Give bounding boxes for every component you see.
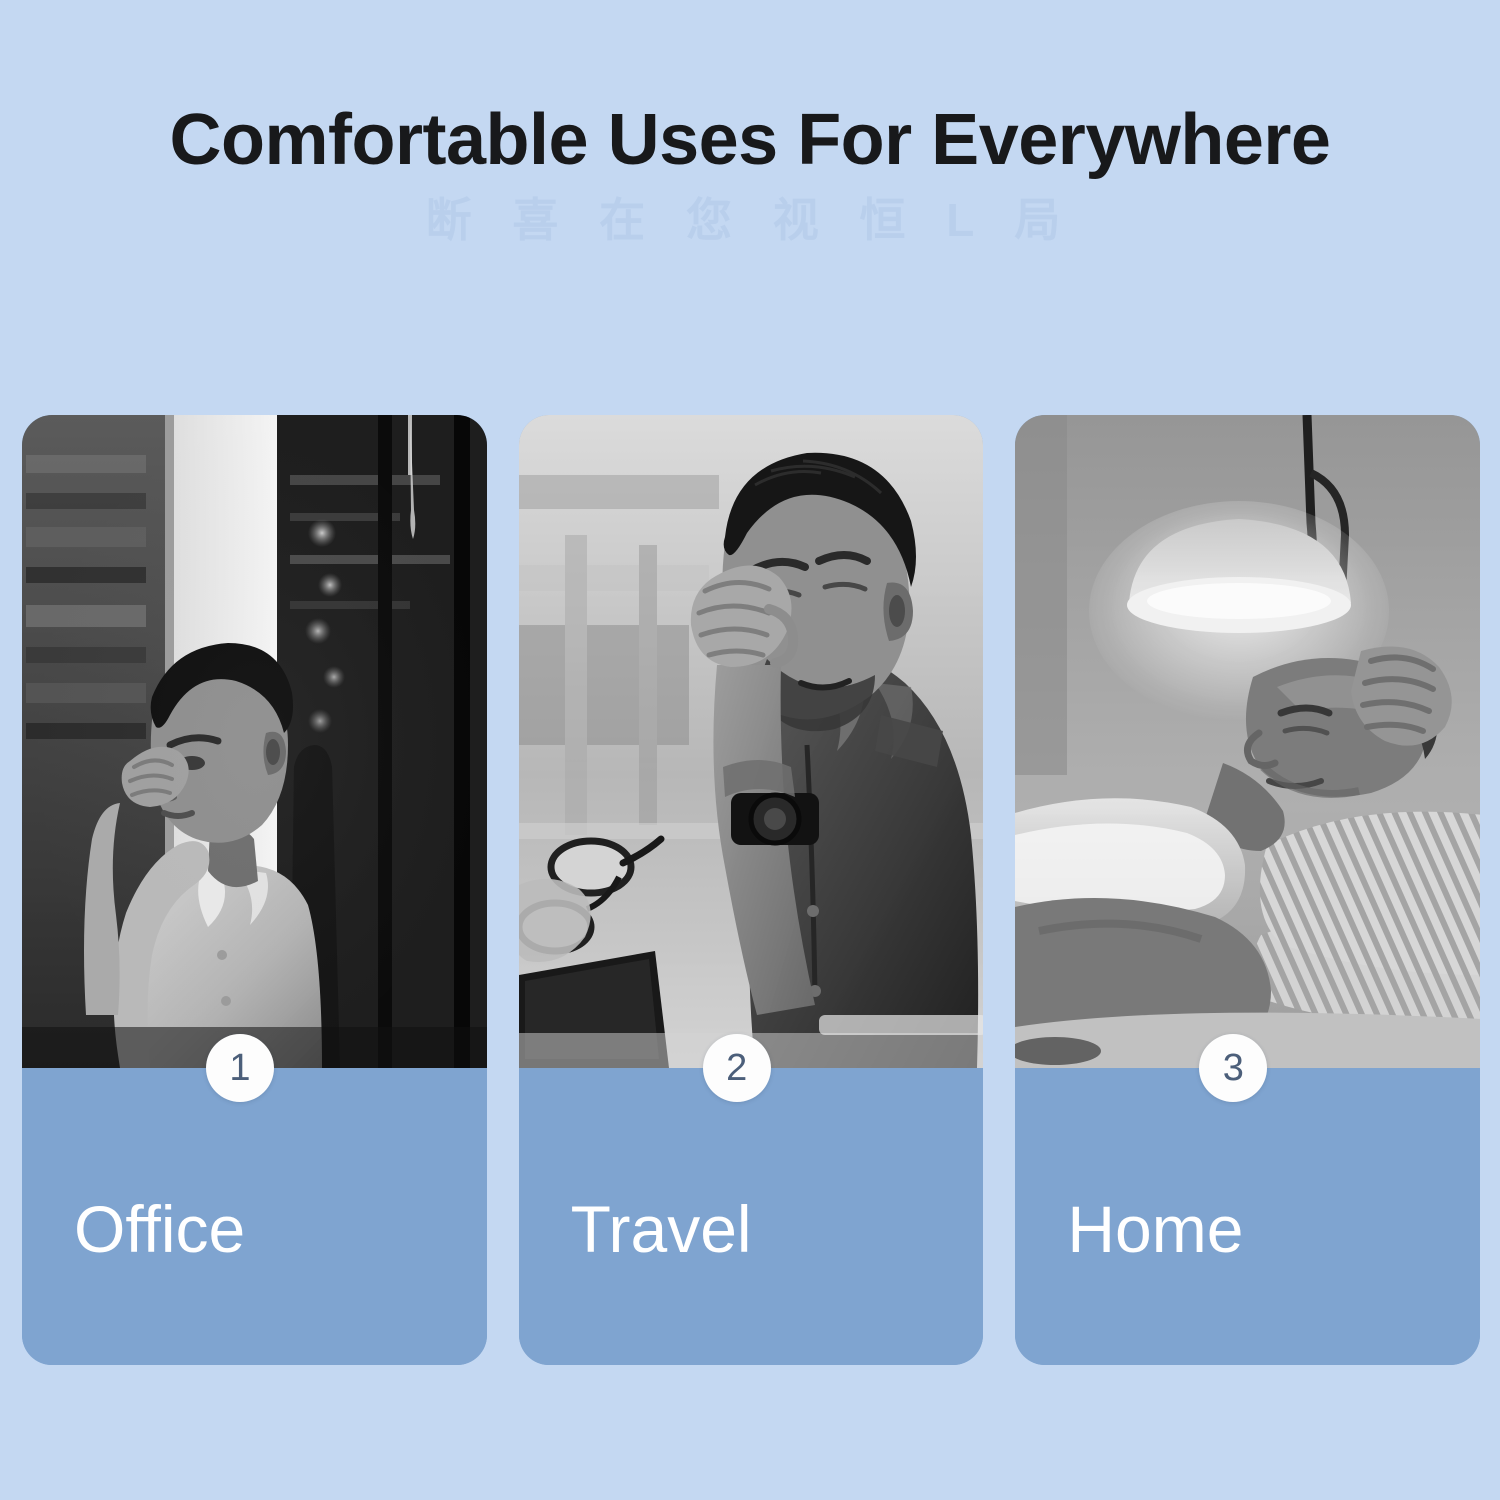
step-badge-2: 2 [703,1034,771,1102]
use-card-home[interactable]: Home 3 [1015,415,1480,1365]
use-card-label-home: Home [1067,1196,1243,1262]
page-header: Comfortable Uses For Everywhere 断 喜 在 您 … [0,0,1500,395]
use-card-label-office: Office [74,1196,245,1262]
card-footer: Office [22,1068,487,1365]
home-photo-art [1015,415,1480,1068]
step-badge-3: 3 [1199,1034,1267,1102]
step-badge-1: 1 [206,1034,274,1102]
travel-eye-strain-photo [519,415,984,1068]
use-cases-row: Office 1 [22,415,1480,1365]
home-eye-strain-photo [1015,415,1480,1068]
card-clip: Home [1015,415,1480,1365]
card-footer: Travel [519,1068,984,1365]
watermark-text: 断 喜 在 您 视 恒 L 局 [0,196,1500,244]
office-eye-strain-photo [22,415,487,1068]
use-card-label-travel: Travel [571,1196,752,1262]
travel-photo-art [519,415,984,1068]
card-clip: Office [22,415,487,1365]
card-footer: Home [1015,1068,1480,1365]
page-title: Comfortable Uses For Everywhere [0,104,1500,176]
use-card-office[interactable]: Office 1 [22,415,487,1365]
use-card-travel[interactable]: Travel 2 [519,415,984,1365]
office-photo-art [22,415,487,1068]
card-clip: Travel [519,415,984,1365]
